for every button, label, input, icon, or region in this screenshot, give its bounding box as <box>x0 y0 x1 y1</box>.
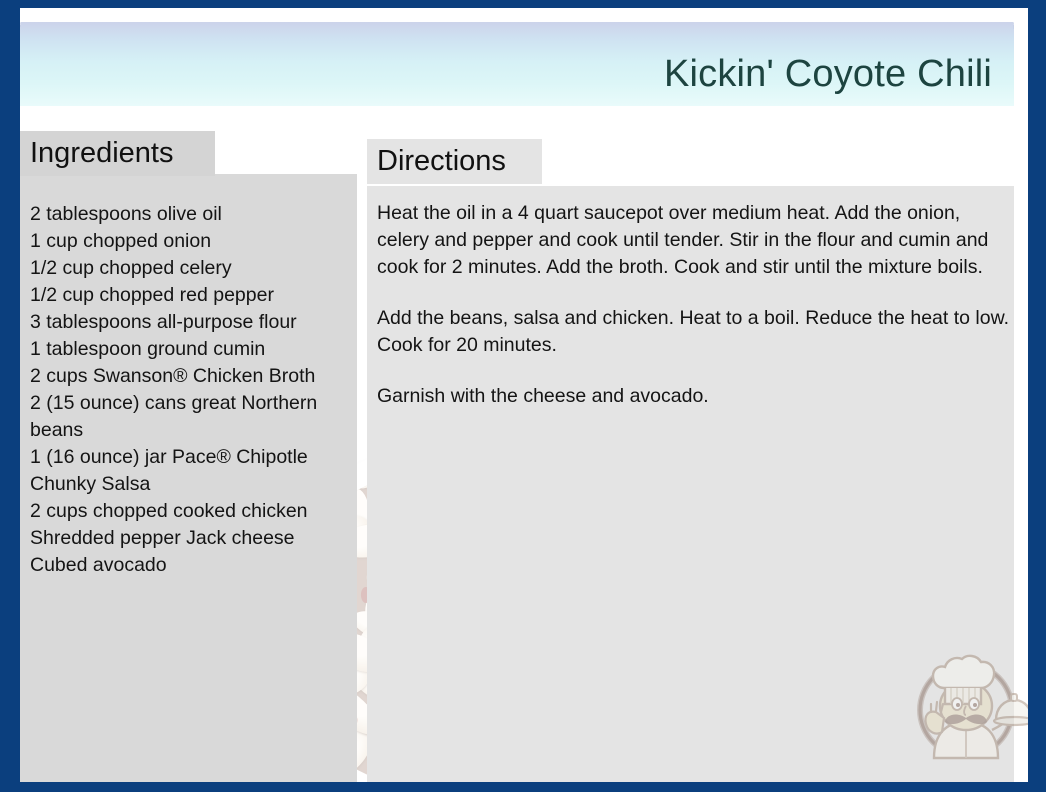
ingredient-item: Shredded pepper Jack cheese <box>30 525 357 552</box>
directions-steps: Heat the oil in a 4 quart saucepot over … <box>377 200 1009 410</box>
card-page: Kickin' Coyote Chili /*beans drawn below… <box>20 8 1028 782</box>
ingredient-item: 1 tablespoon ground cumin <box>30 336 357 363</box>
border-top <box>0 0 1046 8</box>
border-right <box>1028 0 1046 792</box>
ingredient-item: 1/2 cup chopped celery <box>30 255 357 282</box>
ingredients-list: 2 tablespoons olive oil1 cup chopped oni… <box>30 201 357 579</box>
ingredient-item: 1/2 cup chopped red pepper <box>30 282 357 309</box>
ingredient-item: 1 (16 ounce) jar Pace® Chipotle Chunky S… <box>30 444 357 498</box>
ingredients-heading: Ingredients <box>20 131 215 176</box>
ingredient-item: Cubed avocado <box>30 552 357 579</box>
border-bottom <box>0 782 1046 792</box>
direction-step: Heat the oil in a 4 quart saucepot over … <box>377 200 1009 281</box>
border-left <box>0 0 20 792</box>
recipe-card: Kickin' Coyote Chili /*beans drawn below… <box>0 0 1046 792</box>
ingredient-item: 1 cup chopped onion <box>30 228 357 255</box>
ingredient-item: 2 cups chopped cooked chicken <box>30 498 357 525</box>
header-banner: Kickin' Coyote Chili <box>20 22 1014 106</box>
page-title: Kickin' Coyote Chili <box>664 53 992 96</box>
ingredient-item: 2 (15 ounce) cans great Northern beans <box>30 390 357 444</box>
chef-logo-icon <box>900 638 1032 770</box>
ingredient-item: 2 tablespoons olive oil <box>30 201 357 228</box>
ingredient-item: 3 tablespoons all-purpose flour <box>30 309 357 336</box>
directions-heading: Directions <box>367 139 542 184</box>
ingredient-item: 2 cups Swanson® Chicken Broth <box>30 363 357 390</box>
direction-step: Add the beans, salsa and chicken. Heat t… <box>377 305 1009 359</box>
direction-step: Garnish with the cheese and avocado. <box>377 383 1009 410</box>
